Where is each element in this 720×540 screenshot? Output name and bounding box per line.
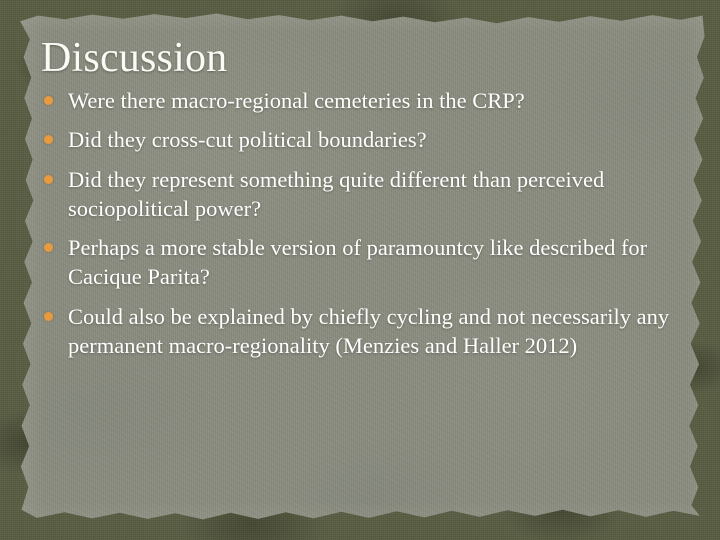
list-item-text: Could also be explained by chiefly cycli… — [68, 302, 690, 361]
slide-content: Discussion Were there macro-regional cem… — [0, 0, 720, 540]
list-item-text: Did they cross-cut political boundaries? — [68, 125, 690, 154]
list-item: Perhaps a more stable version of paramou… — [40, 233, 690, 292]
bullet-dot-icon — [44, 312, 53, 321]
bullet-dot-icon — [44, 175, 53, 184]
list-item: Did they represent something quite diffe… — [40, 165, 690, 224]
list-item: Could also be explained by chiefly cycli… — [40, 302, 690, 361]
list-item: Were there macro-regional cemeteries in … — [40, 86, 690, 115]
slide-title: Discussion — [41, 36, 227, 80]
bullet-dot-icon — [44, 243, 53, 252]
list-item: Did they cross-cut political boundaries? — [40, 125, 690, 154]
list-item-text: Perhaps a more stable version of paramou… — [68, 233, 690, 292]
list-item-text: Did they represent something quite diffe… — [68, 165, 690, 224]
presentation-slide: Discussion Were there macro-regional cem… — [0, 0, 720, 540]
bullet-dot-icon — [44, 96, 53, 105]
bullet-list: Were there macro-regional cemeteries in … — [40, 86, 690, 370]
list-item-text: Were there macro-regional cemeteries in … — [68, 86, 690, 115]
bullet-dot-icon — [44, 135, 53, 144]
